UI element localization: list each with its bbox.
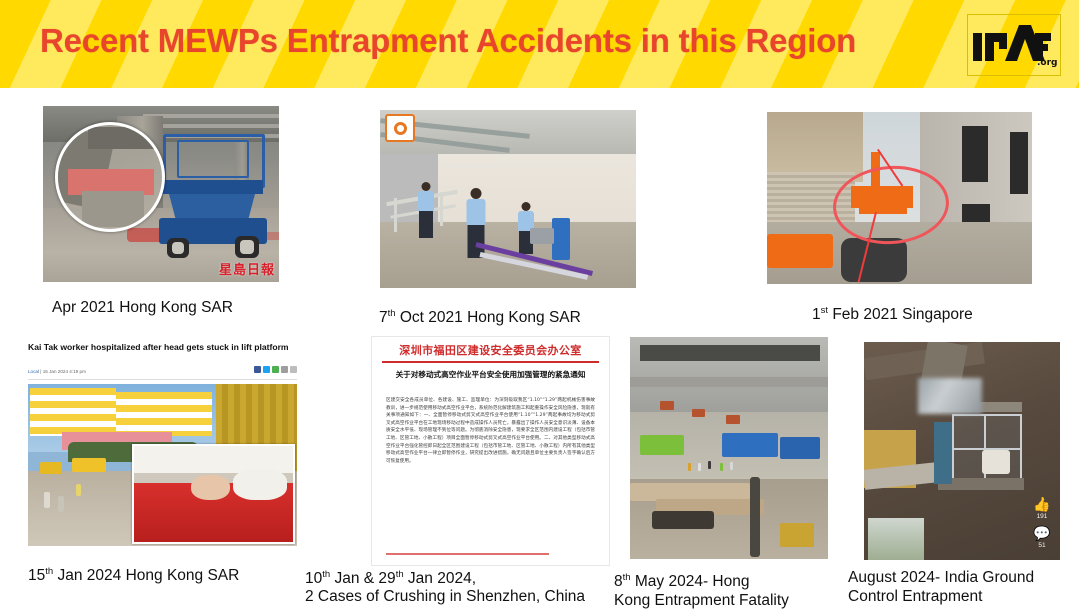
worker bbox=[708, 461, 711, 469]
yellow-truck bbox=[72, 458, 106, 472]
worker bbox=[688, 463, 691, 471]
inset-beam bbox=[88, 127, 158, 149]
photo-hk-apr-2021: 星島日報 bbox=[43, 106, 279, 282]
blue-truck bbox=[780, 437, 820, 459]
mast-column bbox=[934, 422, 952, 484]
whatsapp-icon[interactable] bbox=[272, 366, 279, 373]
photo-hk-jan-2024: Kai Tak worker hospitalized after head g… bbox=[22, 338, 303, 550]
twitter-icon[interactable] bbox=[263, 366, 270, 373]
photo-india-aug-2024: 👍 191 💬 51 bbox=[864, 342, 1060, 560]
window-opening bbox=[1010, 132, 1028, 194]
patient-face bbox=[191, 475, 229, 500]
social-share-buttons[interactable] bbox=[254, 366, 297, 373]
like-count: 191 bbox=[1030, 512, 1054, 521]
yellow-truck bbox=[40, 462, 62, 474]
police-officer bbox=[416, 182, 436, 238]
video-engagement-overlay: 👍 191 💬 51 bbox=[1030, 496, 1054, 550]
email-icon[interactable] bbox=[281, 366, 288, 373]
foreground-machine bbox=[767, 234, 833, 268]
mewp-machine bbox=[552, 218, 570, 260]
ceiling-beam bbox=[153, 124, 279, 128]
inset-floor bbox=[82, 191, 144, 227]
facebook-icon[interactable] bbox=[254, 366, 261, 373]
worker bbox=[58, 496, 64, 512]
equipment bbox=[530, 228, 554, 244]
light-mast bbox=[750, 477, 760, 557]
page-title: Recent MEWPs Entrapment Accidents in thi… bbox=[40, 22, 856, 60]
concrete-slab bbox=[630, 377, 828, 387]
tent bbox=[652, 511, 714, 529]
worker bbox=[698, 463, 701, 471]
pillow bbox=[233, 469, 287, 500]
comment-count: 51 bbox=[1030, 541, 1054, 550]
slide-banner: Recent MEWPs Entrapment Accidents in thi… bbox=[0, 0, 1079, 88]
handrail-post bbox=[394, 198, 397, 232]
news-byline: Local | 15 Jan 2024 4:19 pm bbox=[28, 369, 86, 374]
photo-shenzhen-notice: 深圳市福田区建设安全委员会办公室 关于对移动式高空作业平台安全使用加强管理的紧急… bbox=[371, 336, 610, 566]
caption-hk-jan-2024: 15th Jan 2024 Hong Kong SAR bbox=[28, 562, 328, 585]
newspaper-watermark: 星島日報 bbox=[219, 259, 275, 278]
material-crate bbox=[692, 409, 705, 417]
caption-hk-apr-2021: Apr 2021 Hong Kong SAR bbox=[52, 298, 312, 317]
print-icon[interactable] bbox=[290, 366, 297, 373]
notice-divider bbox=[382, 361, 599, 363]
photo-hk-may-2024 bbox=[630, 337, 828, 559]
concrete-slab bbox=[640, 345, 820, 361]
worker bbox=[720, 463, 723, 471]
photo-hk-oct-2021 bbox=[380, 110, 636, 288]
news-outlet-logo bbox=[385, 114, 415, 142]
worker bbox=[44, 492, 50, 508]
news-headline: Kai Tak worker hospitalized after head g… bbox=[28, 342, 297, 353]
background-foliage bbox=[868, 518, 924, 560]
scissor-lift-wheel bbox=[235, 236, 259, 258]
worker bbox=[76, 484, 81, 496]
blue-truck bbox=[722, 433, 778, 457]
notice-footer-rule bbox=[386, 553, 549, 555]
svg-text:.org: .org bbox=[1037, 58, 1057, 67]
material-crate bbox=[660, 401, 674, 410]
green-truck bbox=[640, 435, 684, 455]
caption-shenzhen-2024: 10th Jan & 29th Jan 2024,2 Cases of Crus… bbox=[305, 566, 635, 606]
photo-sg-feb-2021 bbox=[767, 112, 1032, 284]
stretcher-inset-photo bbox=[132, 444, 295, 544]
residential-tower bbox=[116, 392, 212, 436]
notice-title: 关于对移动式高空作业平台安全使用加强管理的紧急通知 bbox=[394, 369, 587, 380]
notice-body: 区建交安全各成员单位、各建设、施工、监理单位：为深刻吸取我区“1.10”“1.2… bbox=[386, 397, 595, 543]
caption-sg-feb-2021: 1st Feb 2021 Singapore bbox=[812, 301, 1062, 324]
news-photo bbox=[28, 384, 297, 546]
material-crate bbox=[726, 415, 740, 424]
residential-tower bbox=[30, 388, 116, 436]
scissor-lift-arms bbox=[169, 194, 255, 220]
handrail-post bbox=[440, 192, 443, 226]
scissor-lift-wheel bbox=[167, 238, 189, 258]
scissor-lift-guardrail bbox=[177, 140, 249, 178]
thumbs-up-icon[interactable]: 👍 bbox=[1030, 496, 1054, 512]
blurred-region bbox=[918, 378, 982, 414]
machine-tire bbox=[841, 238, 907, 282]
ipaf-logo-mark: .org bbox=[971, 23, 1057, 67]
caption-hk-oct-2021: 7th Oct 2021 Hong Kong SAR bbox=[379, 304, 659, 327]
closeup-inset bbox=[55, 122, 165, 232]
yellow-generator bbox=[780, 523, 814, 547]
caption-hk-may-2024: 8th May 2024- HongKong Entrapment Fatali… bbox=[614, 568, 824, 610]
ipaf-logo: .org bbox=[967, 14, 1061, 76]
worker bbox=[730, 462, 733, 470]
bucket bbox=[982, 450, 1010, 474]
notice-issuer: 深圳市福田区建设安全委员会办公室 bbox=[382, 342, 599, 358]
caption-india-aug-2024: August 2024- India GroundControl Entrapm… bbox=[848, 568, 1078, 606]
comment-icon[interactable]: 💬 bbox=[1030, 525, 1054, 541]
window-opening bbox=[962, 126, 988, 182]
scissor-lift-platform bbox=[161, 180, 263, 194]
ceiling-beam bbox=[143, 114, 279, 118]
divider bbox=[28, 379, 297, 380]
